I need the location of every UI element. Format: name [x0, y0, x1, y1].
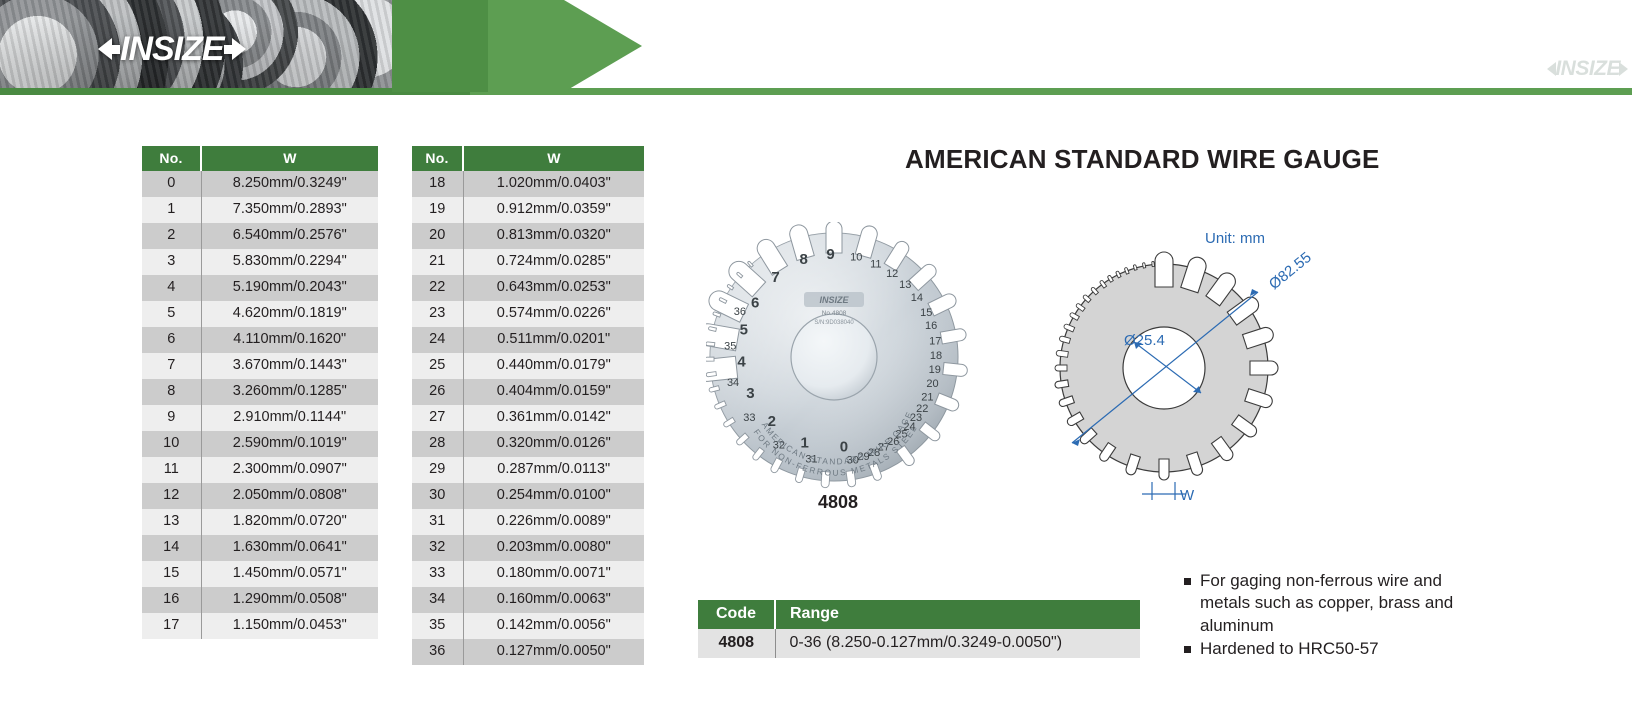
cell-gauge-no: 11	[142, 457, 201, 483]
cell-gauge-no: 19	[412, 197, 463, 223]
page-title: AMERICAN STANDARD WIRE GAUGE	[905, 144, 1380, 175]
table-row: 181.020mm/0.0403"	[412, 171, 644, 197]
cell-gauge-no: 23	[412, 301, 463, 327]
feature-text: Hardened to HRC50-57	[1200, 638, 1379, 660]
table-row: 92.910mm/0.1144"	[142, 405, 378, 431]
table-row: 131.820mm/0.0720"	[142, 509, 378, 535]
cell-gauge-width: 1.290mm/0.0508"	[201, 587, 378, 613]
cell-gauge-no: 35	[412, 613, 463, 639]
cell-gauge-no: 29	[412, 457, 463, 483]
column-header-w: W	[201, 146, 378, 171]
dim-label-bore: Ø25.4	[1124, 332, 1165, 349]
cell-gauge-no: 6	[142, 327, 201, 353]
svg-text:10: 10	[850, 252, 862, 264]
cell-gauge-width: 0.320mm/0.0126"	[463, 431, 644, 457]
cell-gauge-width: 0.440mm/0.0179"	[463, 353, 644, 379]
svg-text:34: 34	[727, 377, 739, 389]
cell-gauge-width: 2.050mm/0.0808"	[201, 483, 378, 509]
table-row: 54.620mm/0.1819"	[142, 301, 378, 327]
technical-drawing: Ø82.55 Ø25.4 W	[1036, 250, 1336, 505]
column-header-range: Range	[775, 600, 1140, 629]
code-range-table-body: 48080-36 (8.250-0.127mm/0.3249-0.0050")	[698, 629, 1140, 658]
cell-gauge-width: 8.250mm/0.3249"	[201, 171, 378, 197]
svg-text:17: 17	[929, 336, 941, 348]
table-row: 190.912mm/0.0359"	[412, 197, 644, 223]
cell-gauge-no: 13	[142, 509, 201, 535]
gauge-table-right: No. W 181.020mm/0.0403"190.912mm/0.0359"…	[412, 146, 644, 665]
cell-gauge-no: 15	[142, 561, 201, 587]
svg-text:14: 14	[911, 292, 923, 304]
svg-text:18: 18	[930, 350, 942, 362]
cell-gauge-width: 0.643mm/0.0253"	[463, 275, 644, 301]
insize-watermark: INSIZE	[1547, 58, 1628, 79]
table-row: 360.127mm/0.0050"	[412, 639, 644, 665]
svg-text:INSIZE: INSIZE	[819, 295, 849, 305]
cell-gauge-width: 2.910mm/0.1144"	[201, 405, 378, 431]
cell-gauge-width: 1.150mm/0.0453"	[201, 613, 378, 639]
gauge-table-left-body: 08.250mm/0.3249"17.350mm/0.2893"26.540mm…	[142, 171, 378, 639]
svg-text:21: 21	[921, 392, 933, 404]
insize-logo: INSIZE	[98, 32, 246, 66]
cell-gauge-width: 0.287mm/0.0113"	[463, 457, 644, 483]
dim-label-width: W	[1180, 487, 1195, 504]
cell-gauge-no: 30	[412, 483, 463, 509]
cell-gauge-no: 21	[412, 249, 463, 275]
column-header-no: No.	[142, 146, 201, 171]
gauge-table-left: No. W 08.250mm/0.3249"17.350mm/0.2893"26…	[142, 146, 378, 639]
cell-gauge-no: 3	[142, 249, 201, 275]
svg-text:1: 1	[800, 434, 808, 451]
cell-gauge-no: 10	[142, 431, 201, 457]
cell-gauge-width: 0.203mm/0.0080"	[463, 535, 644, 561]
cell-gauge-width: 1.630mm/0.0641"	[201, 535, 378, 561]
table-row: 210.724mm/0.0285"	[412, 249, 644, 275]
feature-item: For gaging non-ferrous wire and metals s…	[1184, 570, 1484, 637]
table-row: 330.180mm/0.0071"	[412, 561, 644, 587]
table-row: 141.630mm/0.0641"	[142, 535, 378, 561]
cell-gauge-width: 0.160mm/0.0063"	[463, 587, 644, 613]
table-header-row: No. W	[412, 146, 644, 171]
watermark-wordmark: INSIZE	[1555, 58, 1620, 79]
cell-gauge-width: 0.142mm/0.0056"	[463, 613, 644, 639]
table-row: 270.361mm/0.0142"	[412, 405, 644, 431]
cell-gauge-width: 0.254mm/0.0100"	[463, 483, 644, 509]
table-row: 240.511mm/0.0201"	[412, 327, 644, 353]
page-header: INSIZE INSIZE	[0, 0, 1632, 96]
table-row: 122.050mm/0.0808"	[142, 483, 378, 509]
cell-gauge-width: 5.190mm/0.2043"	[201, 275, 378, 301]
svg-text:33: 33	[743, 412, 755, 424]
svg-text:7: 7	[771, 269, 779, 286]
logo-left-arrow-icon	[98, 38, 112, 60]
cell-gauge-no: 22	[412, 275, 463, 301]
column-header-code: Code	[698, 600, 775, 629]
cell-gauge-no: 16	[142, 587, 201, 613]
feature-item: Hardened to HRC50-57	[1184, 638, 1484, 660]
svg-text:6: 6	[751, 295, 759, 312]
cell-gauge-no: 33	[412, 561, 463, 587]
cell-gauge-no: 9	[142, 405, 201, 431]
square-bullet-icon	[1184, 646, 1191, 653]
table-row: 220.643mm/0.0253"	[412, 275, 644, 301]
svg-text:12: 12	[886, 268, 898, 280]
feature-list: For gaging non-ferrous wire and metals s…	[1184, 570, 1484, 662]
table-row: 64.110mm/0.1620"	[142, 327, 378, 353]
cell-gauge-width: 0.511mm/0.0201"	[463, 327, 644, 353]
cell-gauge-no: 20	[412, 223, 463, 249]
table-row: 73.670mm/0.1443"	[142, 353, 378, 379]
svg-text:16: 16	[925, 320, 937, 332]
cell-gauge-no: 32	[412, 535, 463, 561]
table-row: 230.574mm/0.0226"	[412, 301, 644, 327]
cell-gauge-no: 27	[412, 405, 463, 431]
cell-range: 0-36 (8.250-0.127mm/0.3249-0.0050")	[775, 629, 1140, 658]
cell-gauge-width: 1.820mm/0.0720"	[201, 509, 378, 535]
unit-label: Unit: mm	[1205, 230, 1265, 247]
cell-gauge-no: 17	[142, 613, 201, 639]
cell-gauge-width: 0.724mm/0.0285"	[463, 249, 644, 275]
table-row: 35.830mm/0.2294"	[142, 249, 378, 275]
table-header-row: Code Range	[698, 600, 1140, 629]
cell-gauge-no: 8	[142, 379, 201, 405]
table-row: 83.260mm/0.1285"	[142, 379, 378, 405]
column-header-w: W	[463, 146, 644, 171]
table-row: 340.160mm/0.0063"	[412, 587, 644, 613]
disc-centre-bore	[791, 314, 877, 400]
svg-text:5: 5	[740, 322, 748, 339]
table-row: 17.350mm/0.2893"	[142, 197, 378, 223]
svg-text:S/N:9D038040: S/N:9D038040	[814, 320, 854, 326]
logo-right-arrow-icon	[232, 38, 246, 60]
column-header-no: No.	[412, 146, 463, 171]
svg-text:No.4808: No.4808	[822, 310, 847, 317]
table-row: 171.150mm/0.0453"	[142, 613, 378, 639]
table-row: 112.300mm/0.0907"	[142, 457, 378, 483]
table-row: 320.203mm/0.0080"	[412, 535, 644, 561]
table-row: 310.226mm/0.0089"	[412, 509, 644, 535]
cell-gauge-width: 0.574mm/0.0226"	[463, 301, 644, 327]
code-range-table: Code Range 48080-36 (8.250-0.127mm/0.324…	[698, 600, 1140, 658]
svg-text:13: 13	[899, 279, 911, 291]
svg-text:20: 20	[926, 378, 938, 390]
square-bullet-icon	[1184, 578, 1191, 585]
table-row: 290.287mm/0.0113"	[412, 457, 644, 483]
cell-gauge-no: 26	[412, 379, 463, 405]
cell-gauge-width: 1.020mm/0.0403"	[463, 171, 644, 197]
svg-text:35: 35	[724, 341, 736, 353]
dim-label-outer: Ø82.55	[1266, 250, 1315, 293]
cell-gauge-no: 24	[412, 327, 463, 353]
disc-body: 0 1 2 3 4 5 6 7 8 9 10 11 12 13 14	[706, 222, 968, 488]
cell-gauge-width: 7.350mm/0.2893"	[201, 197, 378, 223]
logo-wordmark: INSIZE	[120, 32, 224, 66]
cell-gauge-no: 36	[412, 639, 463, 665]
feature-text: For gaging non-ferrous wire and metals s…	[1200, 570, 1484, 637]
svg-text:0: 0	[840, 438, 848, 455]
table-row: 350.142mm/0.0056"	[412, 613, 644, 639]
cell-gauge-width: 0.404mm/0.0159"	[463, 379, 644, 405]
cell-gauge-no: 18	[412, 171, 463, 197]
cell-gauge-width: 0.180mm/0.0071"	[463, 561, 644, 587]
cell-gauge-no: 5	[142, 301, 201, 327]
cell-gauge-no: 12	[142, 483, 201, 509]
cell-gauge-width: 5.830mm/0.2294"	[201, 249, 378, 275]
header-green-chevron	[392, 0, 642, 92]
table-row: 280.320mm/0.0126"	[412, 431, 644, 457]
cell-gauge-width: 2.300mm/0.0907"	[201, 457, 378, 483]
cell-gauge-no: 2	[142, 223, 201, 249]
cell-gauge-width: 0.127mm/0.0050"	[463, 639, 644, 665]
table-row: 250.440mm/0.0179"	[412, 353, 644, 379]
cell-gauge-no: 0	[142, 171, 201, 197]
svg-text:11: 11	[870, 258, 881, 270]
cell-gauge-width: 3.260mm/0.1285"	[201, 379, 378, 405]
watermark-right-arrow-icon	[1619, 62, 1628, 76]
cell-gauge-width: 4.620mm/0.1819"	[201, 301, 378, 327]
logo-left-bar-icon	[111, 45, 120, 54]
cell-gauge-width: 0.813mm/0.0320"	[463, 223, 644, 249]
cell-gauge-no: 28	[412, 431, 463, 457]
product-photo: 0 1 2 3 4 5 6 7 8 9 10 11 12 13 14	[706, 222, 996, 502]
cell-gauge-width: 0.226mm/0.0089"	[463, 509, 644, 535]
svg-text:3: 3	[746, 385, 754, 402]
table-row: 08.250mm/0.3249"	[142, 171, 378, 197]
table-row: 200.813mm/0.0320"	[412, 223, 644, 249]
cell-gauge-width: 0.361mm/0.0142"	[463, 405, 644, 431]
cell-gauge-no: 34	[412, 587, 463, 613]
table-row: 48080-36 (8.250-0.127mm/0.3249-0.0050")	[698, 629, 1140, 658]
svg-text:19: 19	[929, 364, 941, 376]
svg-text:8: 8	[800, 251, 808, 268]
table-row: 161.290mm/0.0508"	[142, 587, 378, 613]
table-header-row: No. W	[142, 146, 378, 171]
model-code-caption: 4808	[818, 492, 858, 513]
table-row: 102.590mm/0.1019"	[142, 431, 378, 457]
cell-gauge-no: 4	[142, 275, 201, 301]
table-row: 45.190mm/0.2043"	[142, 275, 378, 301]
cell-gauge-width: 3.670mm/0.1443"	[201, 353, 378, 379]
svg-text:4: 4	[737, 354, 746, 371]
table-row: 300.254mm/0.0100"	[412, 483, 644, 509]
cell-gauge-width: 2.590mm/0.1019"	[201, 431, 378, 457]
cell-gauge-no: 1	[142, 197, 201, 223]
svg-text:15: 15	[920, 307, 932, 319]
cell-gauge-width: 4.110mm/0.1620"	[201, 327, 378, 353]
cell-gauge-width: 1.450mm/0.0571"	[201, 561, 378, 587]
cell-gauge-no: 25	[412, 353, 463, 379]
cell-gauge-width: 0.912mm/0.0359"	[463, 197, 644, 223]
svg-text:9: 9	[826, 246, 834, 263]
table-row: 260.404mm/0.0159"	[412, 379, 644, 405]
cell-gauge-width: 6.540mm/0.2576"	[201, 223, 378, 249]
svg-text:36: 36	[734, 306, 746, 318]
cell-code: 4808	[698, 629, 775, 658]
cell-gauge-no: 14	[142, 535, 201, 561]
table-row: 26.540mm/0.2576"	[142, 223, 378, 249]
gauge-table-right-body: 181.020mm/0.0403"190.912mm/0.0359"200.81…	[412, 171, 644, 665]
cell-gauge-no: 7	[142, 353, 201, 379]
table-row: 151.450mm/0.0571"	[142, 561, 378, 587]
cell-gauge-no: 31	[412, 509, 463, 535]
